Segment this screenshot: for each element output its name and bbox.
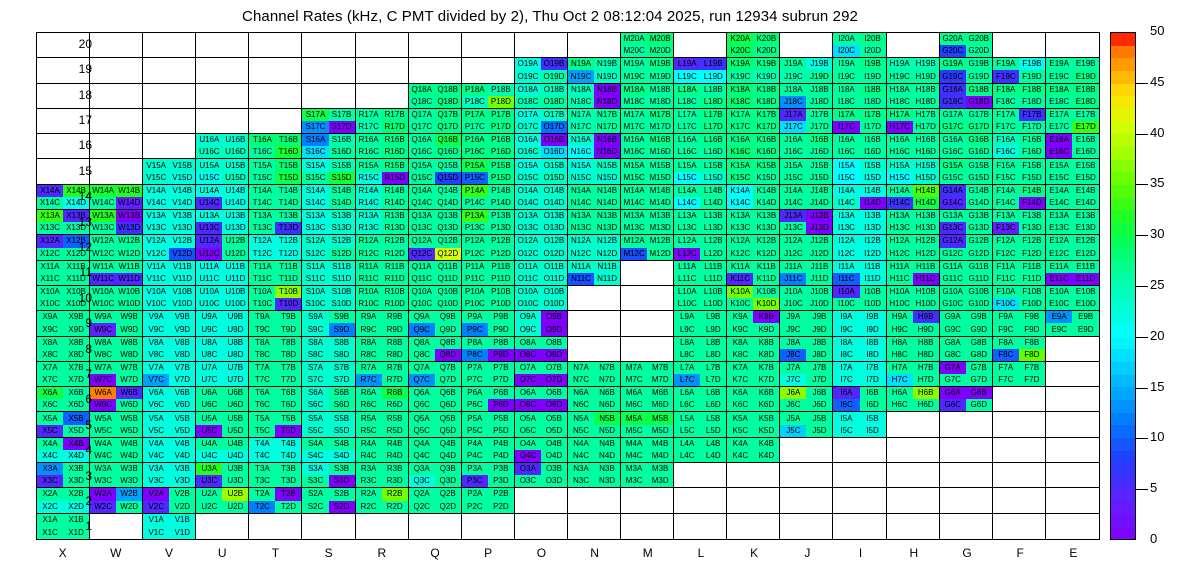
module-cell-P12[interactable]: P12AP12BP12CP12D [462,235,515,260]
channel-M4C[interactable]: M4C [621,450,647,462]
channel-S14D[interactable]: S14D [329,197,355,209]
channel-P6C[interactable]: P6C [462,399,488,411]
channel-I7B[interactable]: I7B [860,362,886,374]
channel-P18B[interactable]: P18B [488,84,514,96]
channel-K17A[interactable]: K17A [727,109,753,121]
channel-U2D[interactable]: U2D [222,501,248,513]
channel-F12D[interactable]: F12D [1019,248,1045,260]
channel-U11C[interactable]: U11C [196,273,222,285]
channel-G20D[interactable]: G20D [966,45,992,57]
channel-E11B[interactable]: E11B [1072,261,1099,273]
channel-H17B[interactable]: H17B [913,109,939,121]
channel-P7A[interactable]: P7A [462,362,488,374]
module-cell-F12[interactable]: F12AF12BF12CF12D [993,235,1046,260]
channel-S5C[interactable]: S5C [302,425,328,437]
channel-P15A[interactable]: P15A [462,159,488,171]
channel-N5D[interactable]: N5D [594,425,620,437]
channel-M17D[interactable]: M17D [647,121,673,133]
channel-R5D[interactable]: R5D [382,425,408,437]
channel-K18D[interactable]: K18D [753,96,779,108]
module-cell-J15[interactable]: J15AJ15BJ15CJ15D [780,159,833,184]
channel-T9C[interactable]: T9C [249,323,275,335]
channel-G18C[interactable]: G18C [940,96,966,108]
channel-J6C[interactable]: J6C [780,399,806,411]
module-cell-L13[interactable]: L13AL13BL13CL13D [674,210,727,235]
channel-O9D[interactable]: O9D [541,323,567,335]
channel-N11C[interactable]: N11C [568,273,594,285]
channel-T4B[interactable]: T4B [275,438,301,450]
channel-W10A[interactable]: W10A [90,286,116,298]
channel-M3A[interactable]: M3A [621,463,647,475]
channel-M18B[interactable]: M18B [647,84,673,96]
channel-K11A[interactable]: K11A [727,261,753,273]
channel-L6C[interactable]: L6C [674,399,700,411]
channel-I16A[interactable]: I16A [833,134,859,146]
channel-Q8C[interactable]: Q8C [409,349,435,361]
channel-Q15B[interactable]: Q15B [435,159,461,171]
channel-H9C[interactable]: H9C [887,323,913,335]
channel-U4B[interactable]: U4B [222,438,248,450]
module-cell-Q9[interactable]: Q9AQ9BQ9CQ9D [409,311,462,336]
channel-L9B[interactable]: L9B [700,311,726,323]
module-cell-M19[interactable]: M19AM19BM19CM19D [621,58,674,83]
module-cell-R9[interactable]: R9AR9BR9CR9D [356,311,409,336]
channel-H12D[interactable]: H12D [913,248,939,260]
channel-H12A[interactable]: H12A [887,235,913,247]
channel-Q9C[interactable]: Q9C [409,323,435,335]
module-cell-L4[interactable]: L4AL4BL4CL4D [674,438,727,463]
channel-J9A[interactable]: J9A [780,311,806,323]
channel-L7A[interactable]: L7A [674,362,700,374]
module-cell-J19[interactable]: J19AJ19BJ19CJ19D [780,58,833,83]
channel-O12A[interactable]: O12A [515,235,541,247]
channel-P11B[interactable]: P11B [488,261,514,273]
channel-F11D[interactable]: F11D [1019,273,1045,285]
channel-Q6D[interactable]: Q6D [435,399,461,411]
channel-O19B[interactable]: O19B [541,58,567,70]
channel-S7B[interactable]: S7B [329,362,355,374]
module-cell-E18[interactable]: E18AE18BE18CE18D [1046,84,1099,109]
channel-J14C[interactable]: J14C [780,197,806,209]
channel-F16B[interactable]: F16B [1019,134,1045,146]
channel-V2A[interactable]: V2A [143,488,169,500]
channel-P13D[interactable]: P13D [488,222,514,234]
channel-N15A[interactable]: N15A [568,159,594,171]
channel-V11D[interactable]: V11D [169,273,195,285]
channel-P7B[interactable]: P7B [488,362,514,374]
channel-X7C[interactable]: X7C [37,374,63,386]
channel-K14A[interactable]: K14A [727,185,753,197]
channel-M18D[interactable]: M18D [647,96,673,108]
channel-X6A[interactable]: X6A [37,387,63,399]
channel-G11C[interactable]: G11C [940,273,966,285]
channel-S8A[interactable]: S8A [302,337,328,349]
channel-H18C[interactable]: H18C [887,96,913,108]
channel-H11D[interactable]: H11D [913,273,939,285]
channel-I8D[interactable]: I8D [860,349,886,361]
channel-G14D[interactable]: G14D [966,197,992,209]
channel-O11D[interactable]: O11D [541,273,567,285]
channel-I7A[interactable]: I7A [833,362,859,374]
channel-P17B[interactable]: P17B [488,109,514,121]
channel-T4D[interactable]: T4D [275,450,301,462]
module-cell-N11[interactable]: N11AN11BN11CN11D [568,261,621,286]
channel-V6C[interactable]: V6C [143,399,169,411]
channel-O4D[interactable]: O4D [541,450,567,462]
channel-J12C[interactable]: J12C [780,248,806,260]
channel-F14B[interactable]: F14B [1019,185,1045,197]
channel-Q15C[interactable]: Q15C [409,172,435,184]
channel-N5A[interactable]: N5A [568,412,594,424]
module-cell-J17[interactable]: J17AJ17BJ17CJ17D [780,109,833,134]
channel-O4B[interactable]: O4B [541,438,567,450]
module-cell-P9[interactable]: P9AP9BP9CP9D [462,311,515,336]
channel-M15D[interactable]: M15D [647,172,673,184]
module-cell-N7[interactable]: N7AN7BN7CN7D [568,362,621,387]
module-cell-P15[interactable]: P15AP15BP15CP15D [462,159,515,184]
channel-N16B[interactable]: N16B [594,134,620,146]
channel-Q4A[interactable]: Q4A [409,438,435,450]
channel-I16C[interactable]: I16C [833,146,859,158]
channel-O10A[interactable]: O10A [515,286,541,298]
channel-G9C[interactable]: G9C [940,323,966,335]
channel-K12A[interactable]: K12A [727,235,753,247]
module-cell-R5[interactable]: R5AR5BR5CR5D [356,412,409,437]
channel-S15B[interactable]: S15B [329,159,355,171]
channel-M3C[interactable]: M3C [621,475,647,487]
channel-K4C[interactable]: K4C [727,450,753,462]
channel-E19B[interactable]: E19B [1072,58,1099,70]
channel-R16C[interactable]: R16C [356,146,382,158]
channel-L13B[interactable]: L13B [700,210,726,222]
channel-N14D[interactable]: N14D [594,197,620,209]
channel-K6C[interactable]: K6C [727,399,753,411]
channel-T13D[interactable]: T13D [275,222,301,234]
channel-W2C[interactable]: W2C [90,501,116,513]
channel-E14B[interactable]: E14B [1072,185,1099,197]
module-cell-R8[interactable]: R8AR8BR8CR8D [356,337,409,362]
module-cell-M16[interactable]: M16AM16BM16CM16D [621,134,674,159]
channel-K17B[interactable]: K17B [753,109,779,121]
channel-Q18D[interactable]: Q18D [435,96,461,108]
channel-U8B[interactable]: U8B [222,337,248,349]
module-cell-L7[interactable]: L7AL7BL7CL7D [674,362,727,387]
channel-L19D[interactable]: L19D [700,70,726,82]
channel-M12B[interactable]: M12B [647,235,673,247]
channel-O13D[interactable]: O13D [541,222,567,234]
module-cell-E11[interactable]: E11AE11BE11CE11D [1046,261,1099,286]
channel-T14C[interactable]: T14C [249,197,275,209]
channel-J6D[interactable]: J6D [806,399,832,411]
channel-W12B[interactable]: W12B [116,235,142,247]
module-cell-V10[interactable]: V10AV10BV10CV10D [143,286,196,311]
module-cell-S8[interactable]: S8AS8BS8CS8D [302,337,355,362]
channel-J18D[interactable]: J18D [806,96,832,108]
channel-P10B[interactable]: P10B [488,286,514,298]
channel-N19B[interactable]: N19B [594,58,620,70]
channel-T16B[interactable]: T16B [275,134,301,146]
channel-G17A[interactable]: G17A [940,109,966,121]
channel-U15D[interactable]: U15D [222,172,248,184]
module-cell-W7[interactable]: W7AW7BW7CW7D [90,362,143,387]
channel-W14D[interactable]: W14D [116,197,142,209]
module-cell-K15[interactable]: K15AK15BK15CK15D [727,159,780,184]
channel-N11B[interactable]: N11B [594,261,620,273]
channel-T2A[interactable]: T2A [249,488,275,500]
channel-K20C[interactable]: K20C [727,45,753,57]
channel-J13A[interactable]: J13A [780,210,806,222]
channel-R2C[interactable]: R2C [356,501,382,513]
channel-F14D[interactable]: F14D [1019,197,1045,209]
channel-Q14C[interactable]: Q14C [409,197,435,209]
channel-V12A[interactable]: V12A [143,235,169,247]
module-cell-E17[interactable]: E17AE17BE17CE17D [1046,109,1099,134]
channel-P14B[interactable]: P14B [488,185,514,197]
module-cell-H6[interactable]: H6AH6BH6CH6D [887,387,940,412]
channel-Q4D[interactable]: Q4D [435,450,461,462]
channel-V10C[interactable]: V10C [143,298,169,310]
channel-R11A[interactable]: R11A [356,261,382,273]
channel-P2C[interactable]: P2C [462,501,488,513]
channel-F10B[interactable]: F10B [1019,286,1045,298]
channel-E9D[interactable]: E9D [1072,323,1099,335]
channel-R7B[interactable]: R7B [382,362,408,374]
channel-G19D[interactable]: G19D [966,70,992,82]
channel-N18C[interactable]: N18C [568,96,594,108]
channel-H11A[interactable]: H11A [887,261,913,273]
channel-J8B[interactable]: J8B [806,337,832,349]
channel-S9C[interactable]: S9C [302,323,328,335]
channel-I15A[interactable]: I15A [833,159,859,171]
channel-Q9D[interactable]: Q9D [435,323,461,335]
channel-V14B[interactable]: V14B [169,185,195,197]
channel-H14A[interactable]: H14A [887,185,913,197]
module-cell-M7[interactable]: M7AM7BM7CM7D [621,362,674,387]
channel-T3A[interactable]: T3A [249,463,275,475]
channel-T12C[interactable]: T12C [249,248,275,260]
channel-G19C[interactable]: G19C [940,70,966,82]
channel-I7D[interactable]: I7D [860,374,886,386]
channel-G13B[interactable]: G13B [966,210,992,222]
channel-F19B[interactable]: F19B [1019,58,1045,70]
channel-Q2C[interactable]: Q2C [409,501,435,513]
channel-R5B[interactable]: R5B [382,412,408,424]
channel-W14A[interactable]: W14A [90,185,116,197]
channel-Q2B[interactable]: Q2B [435,488,461,500]
channel-Q7D[interactable]: Q7D [435,374,461,386]
module-cell-U5[interactable]: U5AU5BU5CU5D [196,412,249,437]
channel-I10B[interactable]: I10B [860,286,886,298]
channel-U16D[interactable]: U16D [222,146,248,158]
module-cell-G15[interactable]: G15AG15BG15CG15D [940,159,993,184]
channel-W4A[interactable]: W4A [90,438,116,450]
module-cell-S10[interactable]: S10AS10BS10CS10D [302,286,355,311]
channel-H13D[interactable]: H13D [913,222,939,234]
channel-P17A[interactable]: P17A [462,109,488,121]
channel-M12C[interactable]: M12C [621,248,647,260]
module-cell-W8[interactable]: W8AW8BW8CW8D [90,337,143,362]
module-cell-W13[interactable]: W13AW13BW13CW13D [90,210,143,235]
channel-K8A[interactable]: K8A [727,337,753,349]
channel-W12A[interactable]: W12A [90,235,116,247]
channel-K9B[interactable]: K9B [753,311,779,323]
channel-G7A[interactable]: G7A [940,362,966,374]
channel-M14D[interactable]: M14D [647,197,673,209]
channel-F17C[interactable]: F17C [993,121,1019,133]
channel-J9D[interactable]: J9D [806,323,832,335]
channel-N4C[interactable]: N4C [568,450,594,462]
channel-F9C[interactable]: F9C [993,323,1019,335]
channel-L17C[interactable]: L17C [674,121,700,133]
module-cell-M12[interactable]: M12AM12BM12CM12D [621,235,674,260]
channel-G18B[interactable]: G18B [966,84,992,96]
channel-Q18A[interactable]: Q18A [409,84,435,96]
channel-L16D[interactable]: L16D [700,146,726,158]
channel-Q14A[interactable]: Q14A [409,185,435,197]
channel-O4A[interactable]: O4A [515,438,541,450]
channel-K8B[interactable]: K8B [753,337,779,349]
channel-Q10D[interactable]: Q10D [435,298,461,310]
channel-E14C[interactable]: E14C [1046,197,1073,209]
channel-I16D[interactable]: I16D [860,146,886,158]
module-cell-U4[interactable]: U4AU4BU4CU4D [196,438,249,463]
module-cell-W6[interactable]: W6AW6BW6CW6D [90,387,143,412]
channel-K6B[interactable]: K6B [753,387,779,399]
channel-I13B[interactable]: I13B [860,210,886,222]
channel-U10D[interactable]: U10D [222,298,248,310]
channel-J15B[interactable]: J15B [806,159,832,171]
channel-Q3D[interactable]: Q3D [435,475,461,487]
channel-T4C[interactable]: T4C [249,450,275,462]
module-cell-G19[interactable]: G19AG19BG19CG19D [940,58,993,83]
channel-V8D[interactable]: V8D [169,349,195,361]
channel-R14A[interactable]: R14A [356,185,382,197]
channel-U16C[interactable]: U16C [196,146,222,158]
channel-E19C[interactable]: E19C [1046,70,1073,82]
module-cell-V3[interactable]: V3AV3BV3CV3D [143,463,196,488]
module-cell-M15[interactable]: M15AM15BM15CM15D [621,159,674,184]
channel-E10A[interactable]: E10A [1046,286,1073,298]
module-cell-O18[interactable]: O18AO18BO18CO18D [515,84,568,109]
module-cell-J11[interactable]: J11AJ11BJ11CJ11D [780,261,833,286]
channel-I6C[interactable]: I6C [833,399,859,411]
channel-J11C[interactable]: J11C [780,273,806,285]
channel-R9C[interactable]: R9C [356,323,382,335]
channel-V15B[interactable]: V15B [169,159,195,171]
channel-H10A[interactable]: H10A [887,286,913,298]
channel-L11B[interactable]: L11B [700,261,726,273]
channel-I20B[interactable]: I20B [860,33,886,45]
channel-H14B[interactable]: H14B [913,185,939,197]
channel-J5A[interactable]: J5A [780,412,806,424]
module-cell-U14[interactable]: U14AU14BU14CU14D [196,185,249,210]
channel-S17C[interactable]: S17C [302,121,328,133]
channel-W10B[interactable]: W10B [116,286,142,298]
channel-U13A[interactable]: U13A [196,210,222,222]
channel-N15D[interactable]: N15D [594,172,620,184]
module-cell-I7[interactable]: I7AI7BI7CI7D [833,362,886,387]
module-cell-O11[interactable]: O11AO11BO11CO11D [515,261,568,286]
channel-W9B[interactable]: W9B [116,311,142,323]
module-cell-G16[interactable]: G16AG16BG16CG16D [940,134,993,159]
channel-K13D[interactable]: K13D [753,222,779,234]
module-cell-M17[interactable]: M17AM17BM17CM17D [621,109,674,134]
channel-O4C[interactable]: O4C [515,450,541,462]
channel-Q18C[interactable]: Q18C [409,96,435,108]
channel-G6C[interactable]: G6C [940,399,966,411]
module-cell-N17[interactable]: N17AN17BN17CN17D [568,109,621,134]
channel-E18A[interactable]: E18A [1046,84,1073,96]
channel-S14C[interactable]: S14C [302,197,328,209]
channel-V13A[interactable]: V13A [143,210,169,222]
channel-G12B[interactable]: G12B [966,235,992,247]
channel-L6A[interactable]: L6A [674,387,700,399]
channel-T9D[interactable]: T9D [275,323,301,335]
channel-G9B[interactable]: G9B [966,311,992,323]
module-cell-H11[interactable]: H11AH11BH11CH11D [887,261,940,286]
channel-V13D[interactable]: V13D [169,222,195,234]
channel-T5C[interactable]: T5C [249,425,275,437]
channel-R11B[interactable]: R11B [382,261,408,273]
channel-V9A[interactable]: V9A [143,311,169,323]
channel-T14A[interactable]: T14A [249,185,275,197]
channel-U6C[interactable]: U6C [196,399,222,411]
channel-Q15A[interactable]: Q15A [409,159,435,171]
channel-N16C[interactable]: N16C [568,146,594,158]
module-cell-J16[interactable]: J16AJ16BJ16CJ16D [780,134,833,159]
channel-R11C[interactable]: R11C [356,273,382,285]
channel-X13C[interactable]: X13C [37,222,63,234]
module-cell-V12[interactable]: V12AV12BV12CV12D [143,235,196,260]
channel-V1D[interactable]: V1D [169,526,195,539]
channel-X10A[interactable]: X10A [37,286,63,298]
channel-J9B[interactable]: J9B [806,311,832,323]
channel-S14A[interactable]: S14A [302,185,328,197]
channel-L12A[interactable]: L12A [674,235,700,247]
channel-L5D[interactable]: L5D [700,425,726,437]
channel-F19D[interactable]: F19D [1019,70,1045,82]
channel-M19A[interactable]: M19A [621,58,647,70]
channel-O3B[interactable]: O3B [541,463,567,475]
channel-K12D[interactable]: K12D [753,248,779,260]
channel-V1B[interactable]: V1B [169,514,195,527]
channel-R12C[interactable]: R12C [356,248,382,260]
channel-G18D[interactable]: G18D [966,96,992,108]
channel-Q3C[interactable]: Q3C [409,475,435,487]
channel-V1A[interactable]: V1A [143,514,169,527]
channel-S6C[interactable]: S6C [302,399,328,411]
module-cell-V9[interactable]: V9AV9BV9CV9D [143,311,196,336]
module-cell-Q18[interactable]: Q18AQ18BQ18CQ18D [409,84,462,109]
module-cell-O6[interactable]: O6AO6BO6CO6D [515,387,568,412]
channel-Q6C[interactable]: Q6C [409,399,435,411]
channel-N5C[interactable]: N5C [568,425,594,437]
channel-K10B[interactable]: K10B [753,286,779,298]
channel-V12B[interactable]: V12B [169,235,195,247]
channel-U5D[interactable]: U5D [222,425,248,437]
channel-V15D[interactable]: V15D [169,172,195,184]
channel-P10C[interactable]: P10C [462,298,488,310]
channel-Q7A[interactable]: Q7A [409,362,435,374]
module-cell-K17[interactable]: K17AK17BK17CK17D [727,109,780,134]
channel-H14D[interactable]: H14D [913,197,939,209]
channel-N17B[interactable]: N17B [594,109,620,121]
module-cell-I17[interactable]: I17AI17BI17CI17D [833,109,886,134]
channel-V14A[interactable]: V14A [143,185,169,197]
module-cell-G20[interactable]: G20AG20BG20CG20D [940,33,993,58]
channel-H7A[interactable]: H7A [887,362,913,374]
channel-M14C[interactable]: M14C [621,197,647,209]
